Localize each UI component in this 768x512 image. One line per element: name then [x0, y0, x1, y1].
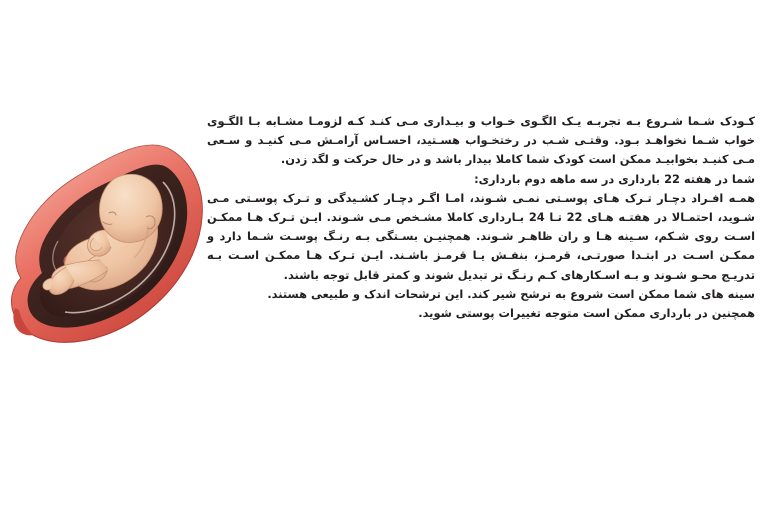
paragraph-breast-leakage: سینه های شما ممکن است شروع به ترشح شیر ک…	[207, 285, 755, 304]
article-text-column: کـودک شـما شـروع بـه تجربـه یـک الگـوی خ…	[207, 112, 755, 323]
paragraph-week22-heading: شما در هفته 22 بارداری در سه ماهه دوم با…	[207, 170, 755, 189]
fetus-in-uterus-illustration	[8, 138, 208, 350]
illustration-svg	[8, 138, 208, 350]
fetus-head	[99, 174, 162, 242]
page-root: کـودک شـما شـروع بـه تجربـه یـک الگـوی خ…	[0, 0, 768, 512]
paragraph-sleep-pattern: کـودک شـما شـروع بـه تجربـه یـک الگـوی خ…	[207, 112, 755, 170]
paragraph-skin-changes: همچنین در بارداری ممکن است متوجه تغییرات…	[207, 304, 755, 323]
paragraph-stretch-marks: همـه افـراد دچـار تـرک هـای پوسـتی نمـی …	[207, 189, 755, 285]
